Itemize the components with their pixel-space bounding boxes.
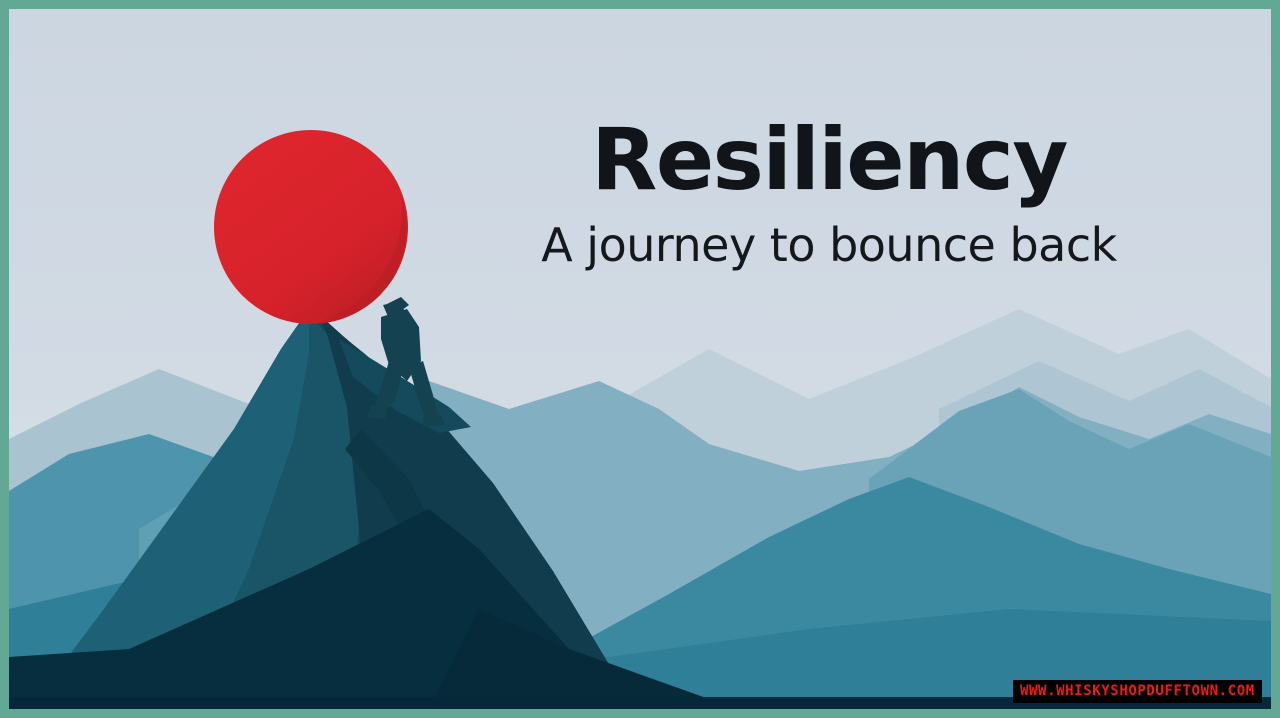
watermark-badge: WWW.WHISKYSHOPDUFFTOWN.COM xyxy=(1013,680,1262,703)
watermark-url-text: WWW.WHISKYSHOPDUFFTOWN.COM xyxy=(1020,684,1255,698)
climber-foot-front xyxy=(423,415,445,427)
poster-canvas: Resiliency A journey to bounce back WWW.… xyxy=(0,0,1280,718)
mountain-illustration xyxy=(9,9,1271,709)
